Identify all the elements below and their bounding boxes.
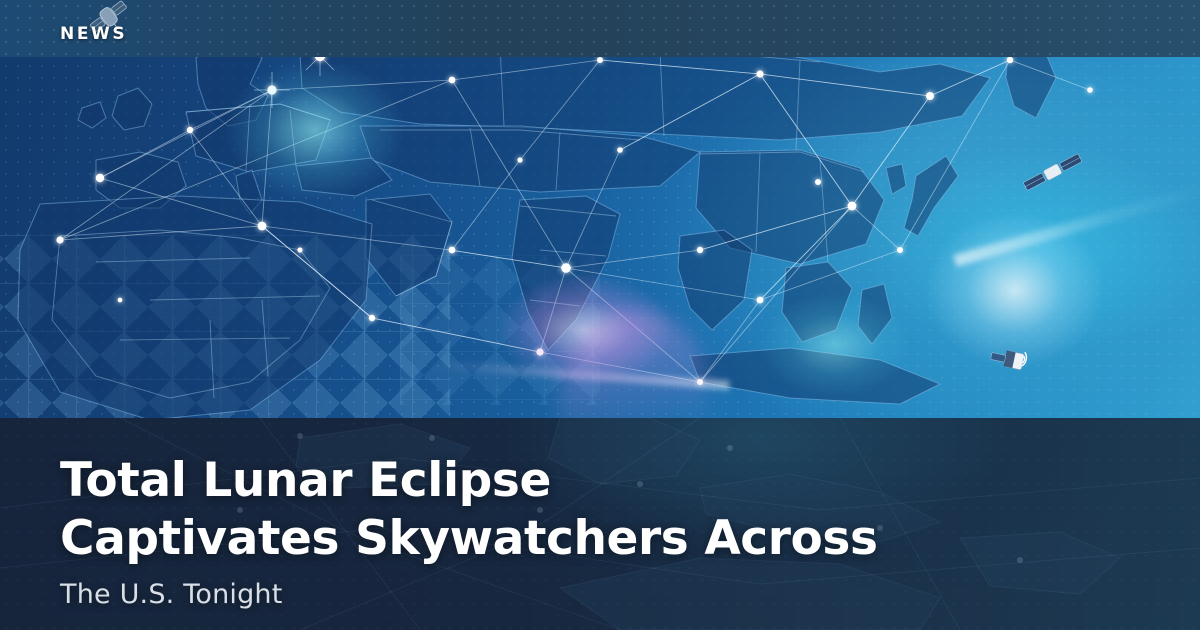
satellite-overlay	[0, 0, 1200, 430]
hero-map-background	[0, 0, 1200, 430]
news-header-band: NEWS	[0, 0, 1200, 57]
news-hero-card: NEWS	[0, 0, 1200, 630]
header-dot-grid	[0, 0, 1200, 57]
article-headline: Total Lunar Eclipse Captivates Skywatche…	[60, 452, 1140, 568]
article-subheadline: The U.S. Tonight	[60, 578, 283, 612]
satellite-pacific-upper	[1023, 153, 1083, 192]
satellite-pacific-lower	[990, 346, 1028, 371]
news-label: NEWS	[60, 24, 127, 44]
